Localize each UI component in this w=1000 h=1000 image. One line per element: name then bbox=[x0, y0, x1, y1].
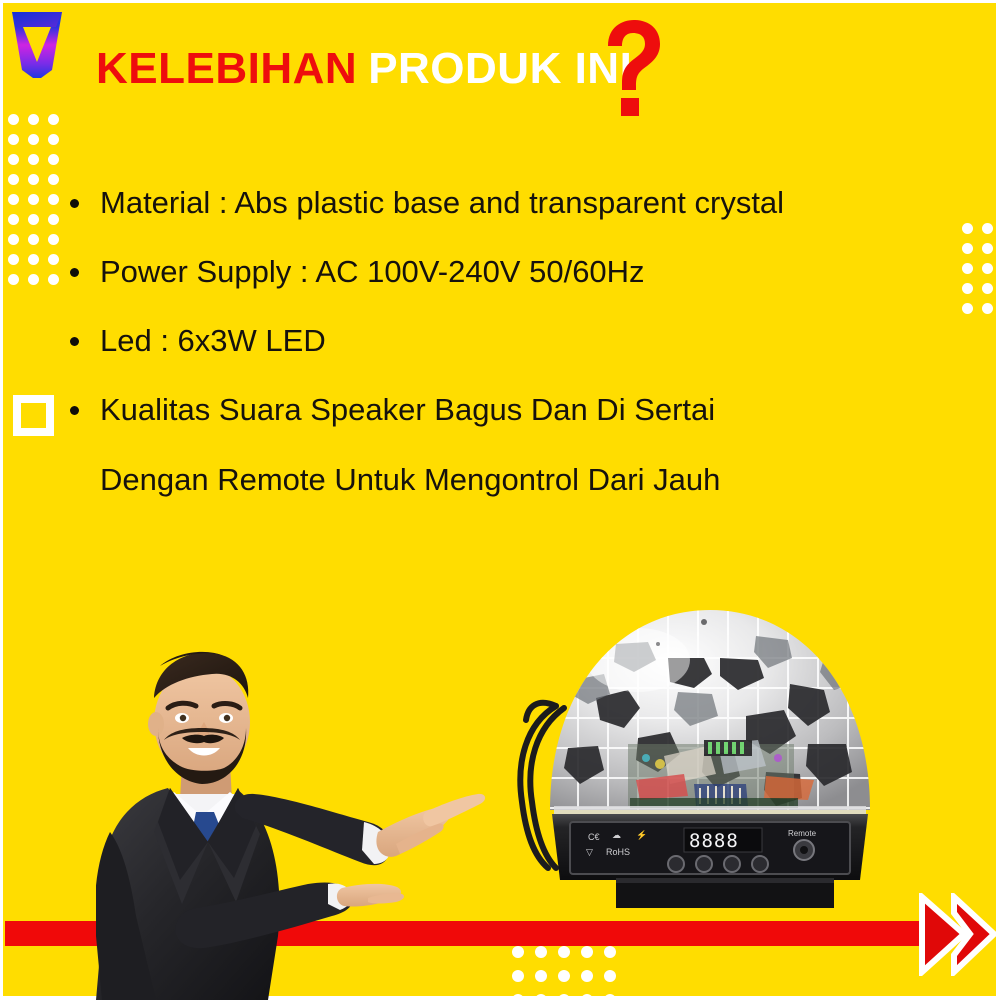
bullet-dot-icon bbox=[70, 406, 79, 415]
question-mark-icon bbox=[600, 18, 662, 118]
svg-text:RoHS: RoHS bbox=[606, 847, 630, 857]
decor-dot-grid-bottom bbox=[512, 946, 623, 1000]
decor-square-outline bbox=[13, 395, 54, 436]
page-title: KELEBIHAN PRODUK INI bbox=[96, 47, 632, 91]
bullet-dot-icon bbox=[70, 199, 79, 208]
frame-edge-top bbox=[0, 0, 1000, 3]
v-triangle-logo-icon bbox=[8, 4, 66, 86]
bullet-dot-icon bbox=[70, 337, 79, 346]
svg-text:Remote: Remote bbox=[788, 829, 817, 838]
product-image-crystal-magic-ball: C€ ☁ ⚡ ▽ RoHS 8888 Remote bbox=[508, 548, 912, 908]
frame-edge-left bbox=[0, 0, 3, 1000]
product-led-display: 8888 bbox=[689, 830, 739, 852]
presenter-image-businessman bbox=[96, 636, 488, 1000]
title-highlight: KELEBIHAN bbox=[96, 47, 357, 91]
feature-label: Led : 6x3W LED bbox=[100, 323, 326, 358]
decor-dot-grid-left bbox=[8, 114, 64, 292]
list-item: Kualitas Suara Speaker Bagus Dan Di Sert… bbox=[68, 393, 978, 497]
frame-edge-right bbox=[996, 0, 1000, 1000]
feature-list: Material : Abs plastic base and transpar… bbox=[68, 186, 978, 532]
feature-label: Power Supply : AC 100V-240V 50/60Hz bbox=[100, 254, 645, 289]
svg-text:☁: ☁ bbox=[612, 830, 621, 840]
product-feature-poster: KELEBIHAN PRODUK INI Material : Abs plas… bbox=[0, 0, 1000, 1000]
svg-text:⚡: ⚡ bbox=[636, 829, 647, 841]
svg-text:C€: C€ bbox=[588, 832, 600, 842]
bullet-dot-icon bbox=[70, 268, 79, 277]
title-rest: PRODUK INI bbox=[368, 47, 632, 91]
list-item: Power Supply : AC 100V-240V 50/60Hz bbox=[68, 255, 978, 289]
feature-label-line2: Dengan Remote Untuk Mengontrol Dari Jauh bbox=[100, 463, 978, 497]
svg-text:▽: ▽ bbox=[586, 847, 593, 857]
feature-label: Kualitas Suara Speaker Bagus Dan Di Sert… bbox=[100, 392, 715, 427]
list-item: Material : Abs plastic base and transpar… bbox=[68, 186, 978, 220]
feature-label: Material : Abs plastic base and transpar… bbox=[100, 185, 784, 220]
list-item: Led : 6x3W LED bbox=[68, 324, 978, 358]
double-chevron-right-arrow-icon bbox=[910, 893, 996, 976]
